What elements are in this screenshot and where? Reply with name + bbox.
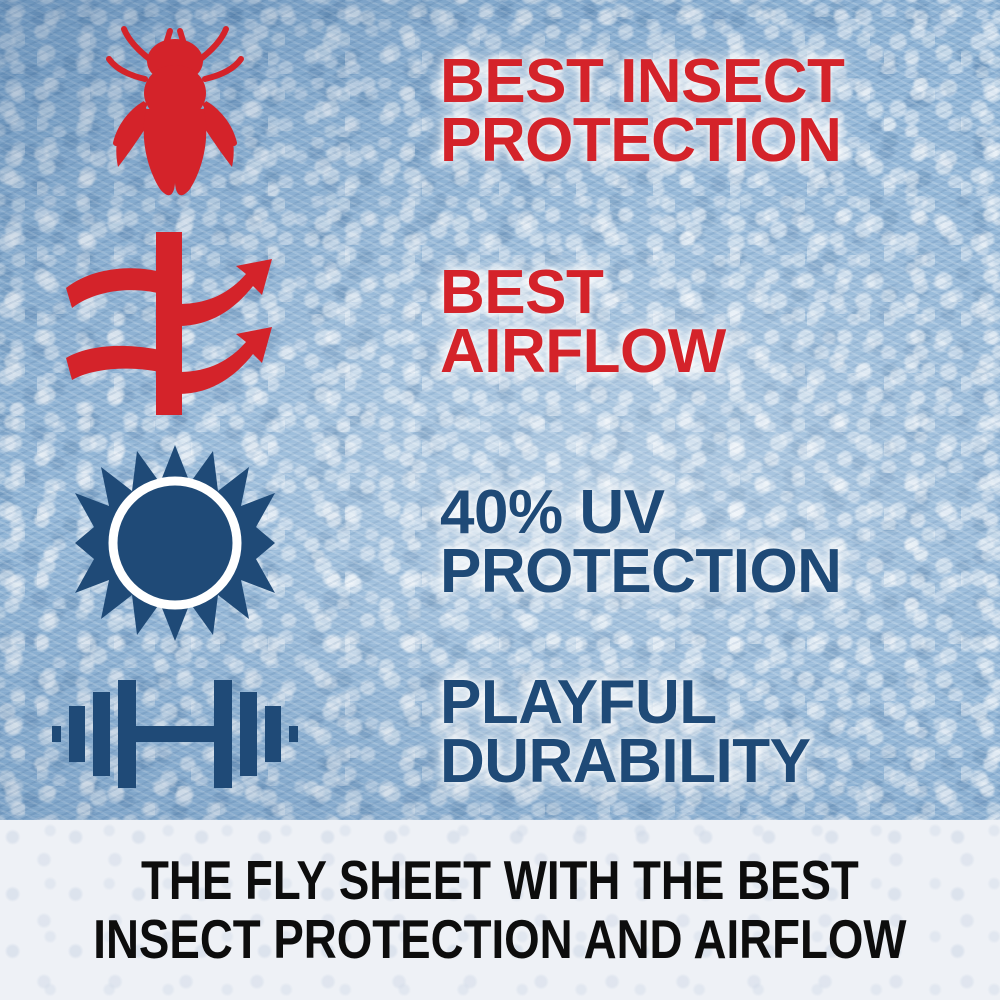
product-feature-poster: BEST INSECT PROTECTION BEST AIRFLOW bbox=[0, 0, 1000, 1000]
feature-label-uv-protection: 40% UV PROTECTION bbox=[440, 484, 841, 602]
caption-bar: THE FLY SHEET WITH THE BEST INSECT PROTE… bbox=[0, 820, 1000, 1000]
airflow-arrows-icon bbox=[60, 226, 290, 421]
caption-text: THE FLY SHEET WITH THE BEST INSECT PROTE… bbox=[93, 851, 906, 970]
feature-label-insect-protection: BEST INSECT PROTECTION bbox=[440, 53, 844, 171]
feature-row-airflow: BEST AIRFLOW bbox=[40, 218, 960, 428]
feature-row-durability: PLAYFUL DURABILITY bbox=[40, 648, 960, 818]
feature-row-uv-protection: 40% UV PROTECTION bbox=[40, 438, 960, 648]
dumbbell-icon bbox=[50, 668, 300, 798]
feature-icon-cell bbox=[40, 658, 310, 808]
sun-uv-icon bbox=[75, 443, 275, 643]
fly-icon bbox=[100, 17, 250, 207]
feature-icon-cell bbox=[40, 441, 310, 646]
feature-label-airflow: BEST AIRFLOW bbox=[440, 264, 726, 382]
feature-label-durability: PLAYFUL DURABILITY bbox=[440, 674, 810, 792]
feature-icon-cell bbox=[40, 17, 310, 207]
feature-row-insect-protection: BEST INSECT PROTECTION bbox=[40, 12, 960, 212]
feature-list: BEST INSECT PROTECTION BEST AIRFLOW bbox=[0, 0, 1000, 820]
feature-icon-cell bbox=[40, 226, 310, 421]
